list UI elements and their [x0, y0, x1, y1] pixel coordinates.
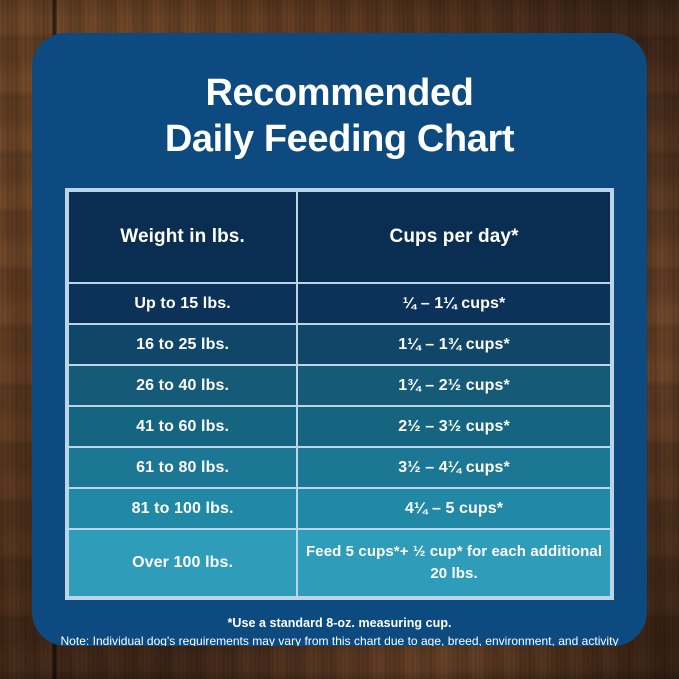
table-row: 41 to 60 lbs. 2½ – 3½ cups*: [68, 406, 611, 447]
cell-weight: Over 100 lbs.: [68, 529, 297, 597]
cell-weight: 41 to 60 lbs.: [68, 406, 297, 447]
footnotes: *Use a standard 8-oz. measuring cup. Not…: [46, 616, 633, 646]
page-title: Recommended Daily Feeding Chart: [32, 33, 647, 162]
cell-cups: Feed 5 cups*+ ½ cup* for each additional…: [297, 529, 611, 597]
table-row: 26 to 40 lbs. 1¾ – 2½ cups*: [68, 365, 611, 406]
table-row: 16 to 25 lbs. 1¼ – 1¾ cups*: [68, 324, 611, 365]
cell-weight: 81 to 100 lbs.: [68, 488, 297, 529]
page-title-line-2: Daily Feeding Chart: [32, 117, 647, 163]
page-title-line-1: Recommended: [32, 71, 647, 117]
feeding-table-container: Weight in lbs. Cups per day* Up to 15 lb…: [65, 188, 614, 600]
column-header-cups: Cups per day*: [297, 191, 611, 283]
cell-weight: Up to 15 lbs.: [68, 283, 297, 324]
column-header-weight: Weight in lbs.: [68, 191, 297, 283]
cell-cups: 2½ – 3½ cups*: [297, 406, 611, 447]
cell-cups: 1¼ – 1¾ cups*: [297, 324, 611, 365]
table-header: Weight in lbs. Cups per day*: [68, 191, 611, 283]
table-row: Over 100 lbs. Feed 5 cups*+ ½ cup* for e…: [68, 529, 611, 597]
cell-weight: 61 to 80 lbs.: [68, 447, 297, 488]
table-header-row: Weight in lbs. Cups per day*: [68, 191, 611, 283]
feeding-chart-card: Recommended Daily Feeding Chart Weight i…: [32, 33, 647, 646]
table-row: Up to 15 lbs. ¼ – 1¼ cups*: [68, 283, 611, 324]
cell-cups: 1¾ – 2½ cups*: [297, 365, 611, 406]
cell-weight: 16 to 25 lbs.: [68, 324, 297, 365]
cell-cups: 3½ – 4¼ cups*: [297, 447, 611, 488]
table-body: Up to 15 lbs. ¼ – 1¼ cups* 16 to 25 lbs.…: [68, 283, 611, 597]
footnote-note: Note: Individual dog's requirements may …: [46, 633, 633, 646]
table-row: 81 to 100 lbs. 4¼ – 5 cups*: [68, 488, 611, 529]
cell-cups: ¼ – 1¼ cups*: [297, 283, 611, 324]
cell-cups: 4¼ – 5 cups*: [297, 488, 611, 529]
table-row: 61 to 80 lbs. 3½ – 4¼ cups*: [68, 447, 611, 488]
cell-weight: 26 to 40 lbs.: [68, 365, 297, 406]
footnote-measuring-cup: *Use a standard 8-oz. measuring cup.: [46, 616, 633, 630]
feeding-table: Weight in lbs. Cups per day* Up to 15 lb…: [67, 190, 612, 598]
